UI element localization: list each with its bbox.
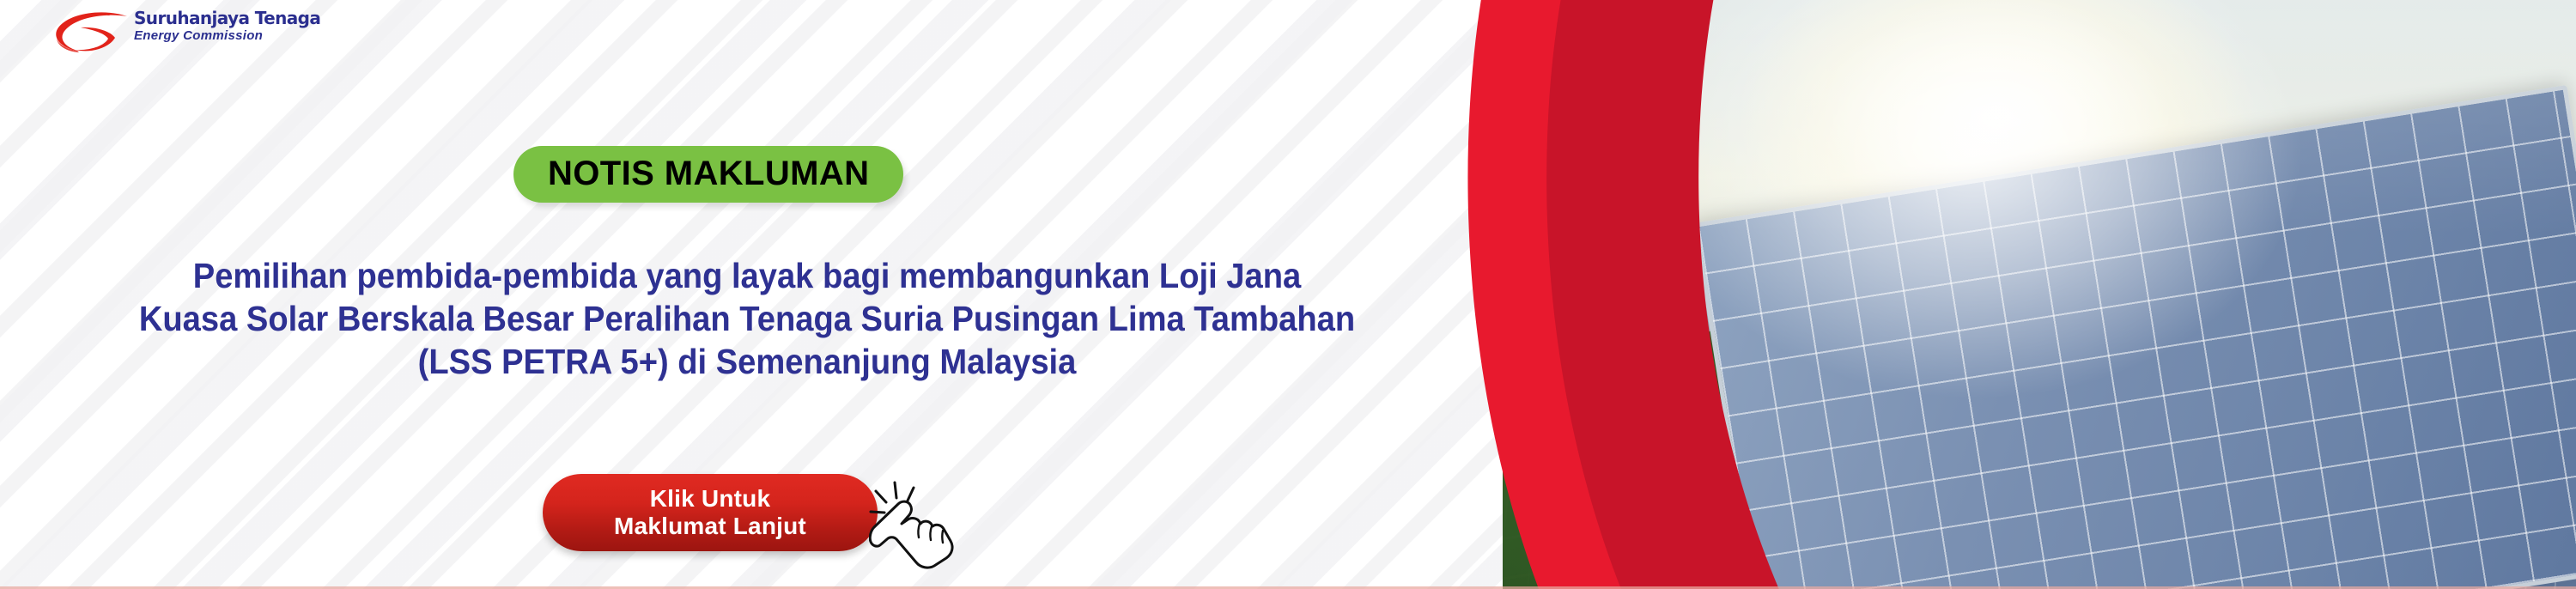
logo-wordmark: Suruhanjaya Tenaga Energy Commission	[134, 9, 417, 45]
logo-name-malay: Suruhanjaya Tenaga	[134, 9, 417, 27]
notice-badge: NOTIS MAKLUMAN	[513, 146, 903, 203]
more-info-button[interactable]: Klik Untuk Maklumat Lanjut	[543, 474, 878, 551]
cta-line-1: Klik Untuk	[650, 485, 770, 513]
promo-banner: Suruhanjaya Tenaga Energy Commission NOT…	[0, 0, 2576, 589]
energy-commission-logo: Suruhanjaya Tenaga Energy Commission	[52, 9, 412, 62]
headline-line-2: Kuasa Solar Berskala Besar Peralihan Ten…	[52, 297, 1442, 340]
headline: Pemilihan pembida-pembida yang layak bag…	[52, 254, 1442, 383]
headline-line-1: Pemilihan pembida-pembida yang layak bag…	[52, 254, 1442, 297]
logo-name-english: Energy Commission	[134, 28, 417, 45]
foreground-solar-panel	[1693, 85, 2576, 589]
cta-line-2: Maklumat Lanjut	[614, 513, 806, 540]
headline-line-3: (LSS PETRA 5+) di Semenanjung Malaysia	[52, 340, 1442, 383]
solar-farm-photo	[1503, 0, 2576, 589]
swoosh-icon	[52, 12, 131, 57]
